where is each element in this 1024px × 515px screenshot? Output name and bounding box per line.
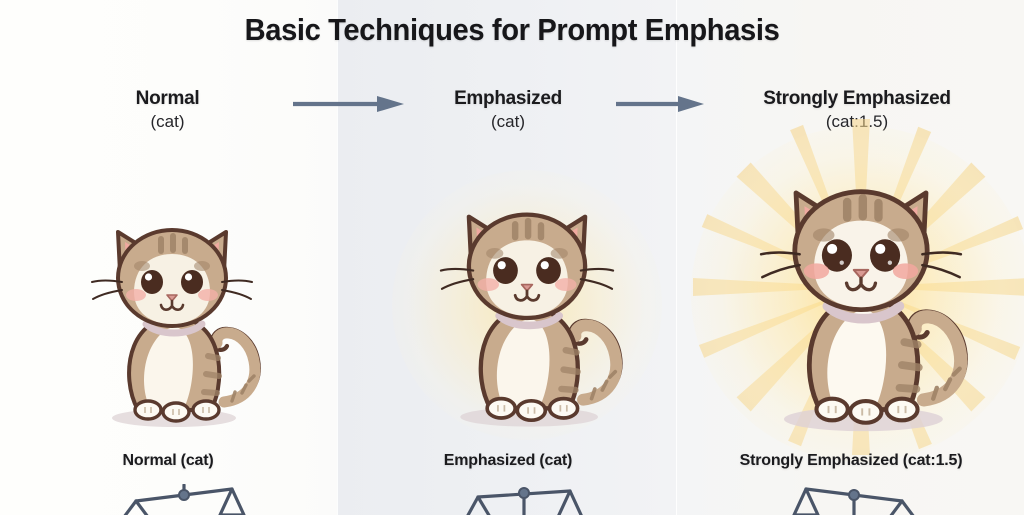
cat-figure bbox=[72, 196, 272, 432]
cat-illustration-strongly-emphasized bbox=[716, 152, 1006, 436]
column-header-emphasized: Emphasized (cat) bbox=[410, 88, 606, 132]
balance-scale-icon bbox=[460, 484, 588, 515]
page-title: Basic Techniques for Prompt Emphasis bbox=[31, 12, 994, 48]
infographic-canvas: Basic Techniques for Prompt Emphasis Nor… bbox=[0, 0, 1024, 515]
panel-divider-1 bbox=[337, 0, 338, 515]
column-header-normal: Normal (cat) bbox=[70, 88, 265, 132]
balance-scale-icon bbox=[790, 484, 918, 515]
column-header-sub: (cat) bbox=[410, 112, 606, 132]
column-header-sub: (cat) bbox=[70, 112, 265, 132]
caption-strongly-emphasized: Strongly Emphasized (cat:1.5) bbox=[690, 452, 1012, 470]
column-header-main: Strongly Emphasized bbox=[700, 88, 1014, 110]
column-header-main: Normal bbox=[70, 88, 265, 110]
caption-emphasized: Emphasized (cat) bbox=[400, 452, 616, 470]
balance-scale-icon bbox=[120, 484, 248, 515]
caption-normal: Normal (cat) bbox=[60, 452, 276, 470]
panel-divider-2 bbox=[676, 0, 677, 515]
cat-figure bbox=[716, 152, 1006, 436]
cat-figure bbox=[404, 178, 650, 432]
cat-illustration-normal bbox=[72, 196, 272, 432]
column-header-main: Emphasized bbox=[410, 88, 606, 110]
column-header-sub: (cat:1.5) bbox=[700, 112, 1014, 132]
arrow-right-icon bbox=[291, 93, 406, 115]
arrow-right-icon bbox=[614, 93, 706, 115]
cat-illustration-emphasized bbox=[404, 178, 650, 432]
column-header-strongly-emphasized: Strongly Emphasized (cat:1.5) bbox=[700, 88, 1014, 132]
